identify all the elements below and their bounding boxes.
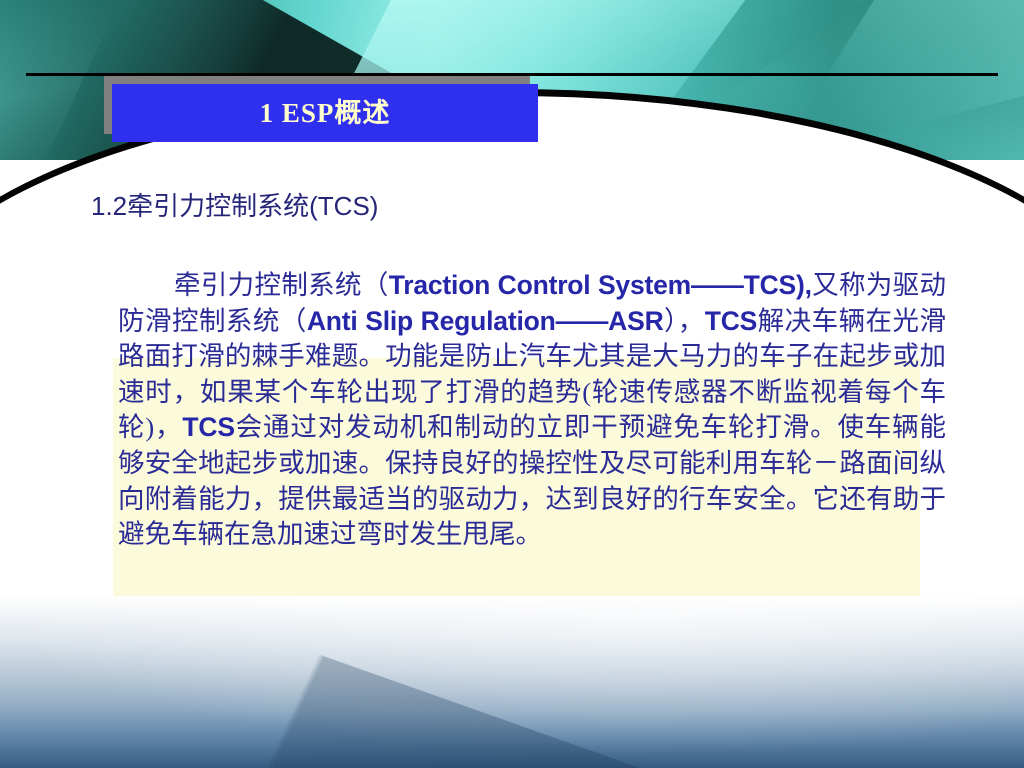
footer-artwork <box>0 596 1024 768</box>
body-segment-5: TCS <box>705 306 757 336</box>
body-segment-0: 牵引力控制系统（ <box>174 270 389 300</box>
title-box[interactable]: 1 ESP概述 <box>112 84 538 142</box>
section-subtitle: 1.2牵引力控制系统(TCS) <box>91 186 378 223</box>
body-segment-8: 会通过对发动机和制动的立即干预避免车轮打滑。使车辆能够安全地起步或加速。保持良好… <box>118 412 946 549</box>
body-segment-1: Traction Control System——TCS), <box>389 270 812 300</box>
body-segment-7: TCS <box>182 412 234 442</box>
body-paragraph: 牵引力控制系统（Traction Control System——TCS),又称… <box>118 268 946 553</box>
body-segment-3: Anti Slip Regulation——ASR <box>307 306 664 336</box>
page-title: 1 ESP概述 <box>260 100 391 127</box>
body-segment-4: ）， <box>664 306 705 336</box>
presentation-slide: 1 ESP概述 1.2牵引力控制系统(TCS) 牵引力控制系统（Traction… <box>0 0 1024 768</box>
